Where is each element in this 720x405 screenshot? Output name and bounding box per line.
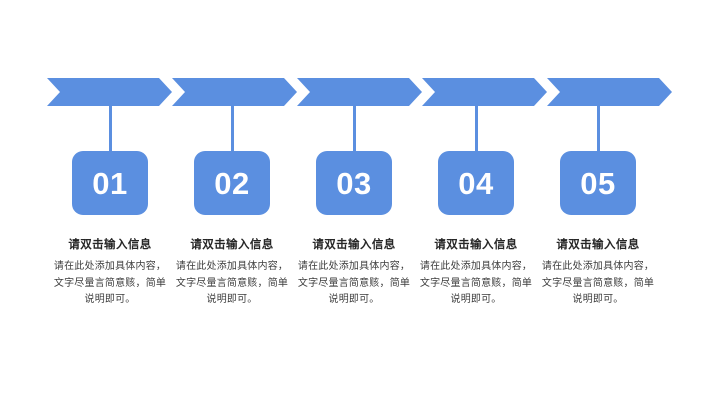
step-body-1[interactable]: 请在此处添加具体内容，文字尽量言简意赅，简单说明即可。 (45, 259, 175, 309)
step-body-4[interactable]: 请在此处添加具体内容，文字尽量言简意赅，简单说明即可。 (411, 259, 541, 309)
step-body-3[interactable]: 请在此处添加具体内容，文字尽量言简意赅，简单说明即可。 (289, 259, 419, 309)
step-heading-3[interactable]: 请双击输入信息 (289, 237, 419, 254)
step-text-block-3: 请双击输入信息 请在此处添加具体内容，文字尽量言简意赅，简单说明即可。 (289, 237, 419, 309)
step-heading-1[interactable]: 请双击输入信息 (45, 237, 175, 254)
chevron-arrow-3[interactable] (297, 78, 422, 106)
step-body-5[interactable]: 请在此处添加具体内容，文字尽量言简意赅，简单说明即可。 (533, 259, 663, 309)
step-column-3: 03 请双击输入信息 请在此处添加具体内容，文字尽量言简意赅，简单说明即可。 (289, 151, 419, 309)
chevron-arrow-2[interactable] (172, 78, 297, 106)
step-number-box-5[interactable]: 05 (560, 151, 636, 215)
chevron-arrow-5[interactable] (547, 78, 672, 106)
step-column-4: 04 请双击输入信息 请在此处添加具体内容，文字尽量言简意赅，简单说明即可。 (411, 151, 541, 309)
step-number-box-1[interactable]: 01 (72, 151, 148, 215)
step-number-box-3[interactable]: 03 (316, 151, 392, 215)
step-number-box-2[interactable]: 02 (194, 151, 270, 215)
slide-canvas: 01 请双击输入信息 请在此处添加具体内容，文字尽量言简意赅，简单说明即可。 0… (0, 0, 720, 405)
step-number-5: 05 (580, 168, 615, 199)
connector-line-5 (597, 105, 600, 153)
step-column-1: 01 请双击输入信息 请在此处添加具体内容，文字尽量言简意赅，简单说明即可。 (45, 151, 175, 309)
step-heading-4[interactable]: 请双击输入信息 (411, 237, 541, 254)
step-column-5: 05 请双击输入信息 请在此处添加具体内容，文字尽量言简意赅，简单说明即可。 (533, 151, 663, 309)
step-number-1: 01 (92, 168, 127, 199)
step-number-2: 02 (214, 168, 249, 199)
chevron-ribbon (47, 78, 673, 106)
connector-line-2 (231, 105, 234, 153)
step-heading-5[interactable]: 请双击输入信息 (533, 237, 663, 254)
connector-line-4 (475, 105, 478, 153)
step-column-2: 02 请双击输入信息 请在此处添加具体内容，文字尽量言简意赅，简单说明即可。 (167, 151, 297, 309)
chevron-arrow-4[interactable] (422, 78, 547, 106)
step-body-2[interactable]: 请在此处添加具体内容，文字尽量言简意赅，简单说明即可。 (167, 259, 297, 309)
step-heading-2[interactable]: 请双击输入信息 (167, 237, 297, 254)
step-text-block-5: 请双击输入信息 请在此处添加具体内容，文字尽量言简意赅，简单说明即可。 (533, 237, 663, 309)
step-text-block-2: 请双击输入信息 请在此处添加具体内容，文字尽量言简意赅，简单说明即可。 (167, 237, 297, 309)
connector-line-3 (353, 105, 356, 153)
connector-line-1 (109, 105, 112, 153)
step-number-4: 04 (458, 168, 493, 199)
step-text-block-1: 请双击输入信息 请在此处添加具体内容，文字尽量言简意赅，简单说明即可。 (45, 237, 175, 309)
step-number-box-4[interactable]: 04 (438, 151, 514, 215)
step-text-block-4: 请双击输入信息 请在此处添加具体内容，文字尽量言简意赅，简单说明即可。 (411, 237, 541, 309)
step-number-3: 03 (336, 168, 371, 199)
chevron-arrow-1[interactable] (47, 78, 172, 106)
